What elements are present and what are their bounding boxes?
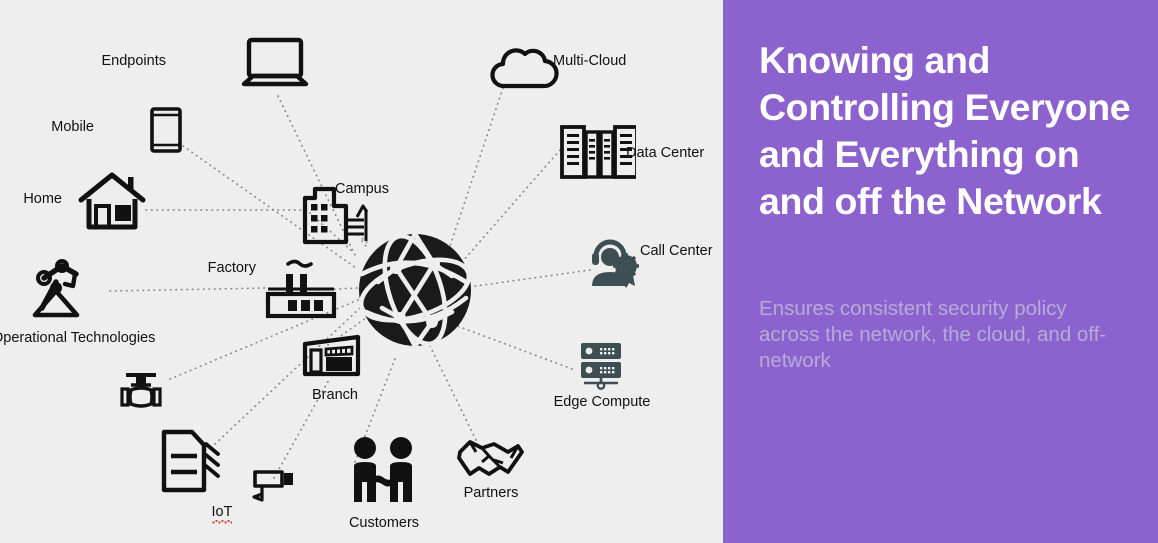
factory-icon bbox=[262, 258, 340, 320]
node-label-mobile: Mobile bbox=[28, 120, 94, 135]
node-label-campus: Campus bbox=[335, 182, 389, 197]
node-label-branch: Branch bbox=[312, 388, 358, 403]
node-label-iot: IoT bbox=[180, 505, 264, 520]
tablet-icon bbox=[148, 106, 184, 154]
node-label-endpoints: Endpoints bbox=[96, 54, 166, 69]
server-racks-icon bbox=[558, 124, 636, 180]
node-label-call-center: Call Center bbox=[640, 243, 710, 259]
node-label-data-center: Data Center bbox=[626, 145, 690, 161]
printer-icon bbox=[160, 428, 222, 494]
cloud-icon bbox=[490, 44, 562, 92]
right-content-panel: Knowing and Controlling Everyone and Eve… bbox=[723, 0, 1158, 543]
laptop-icon bbox=[236, 36, 314, 92]
node-label-home: Home bbox=[0, 192, 62, 207]
node-label-multi-cloud: Multi-Cloud bbox=[553, 54, 626, 69]
node-label-factory: Factory bbox=[178, 261, 256, 276]
two-people-handshake-icon bbox=[348, 436, 420, 504]
panel-headline: Knowing and Controlling Everyone and Eve… bbox=[759, 37, 1137, 225]
node-label-edge-compute: Edge Compute bbox=[545, 395, 659, 410]
security-camera-icon bbox=[252, 466, 296, 502]
house-icon bbox=[78, 172, 146, 232]
storefront-icon bbox=[302, 334, 364, 378]
slide-root: Endpoints Mobile Home bbox=[0, 0, 1158, 543]
globe-network-icon bbox=[356, 230, 474, 350]
network-diagram: Endpoints Mobile Home bbox=[0, 0, 723, 543]
node-label-partners: Partners bbox=[444, 486, 538, 501]
node-label-operational-technologies: Operational Technologies bbox=[0, 330, 120, 346]
valve-icon bbox=[118, 370, 164, 408]
panel-subhead: Ensures consistent security policy acros… bbox=[759, 296, 1114, 374]
handshake-icon bbox=[456, 434, 526, 486]
robot-arm-icon bbox=[32, 258, 94, 320]
headset-agent-icon bbox=[588, 234, 646, 290]
node-label-customers: Customers bbox=[330, 516, 438, 531]
server-node-icon bbox=[572, 340, 630, 392]
